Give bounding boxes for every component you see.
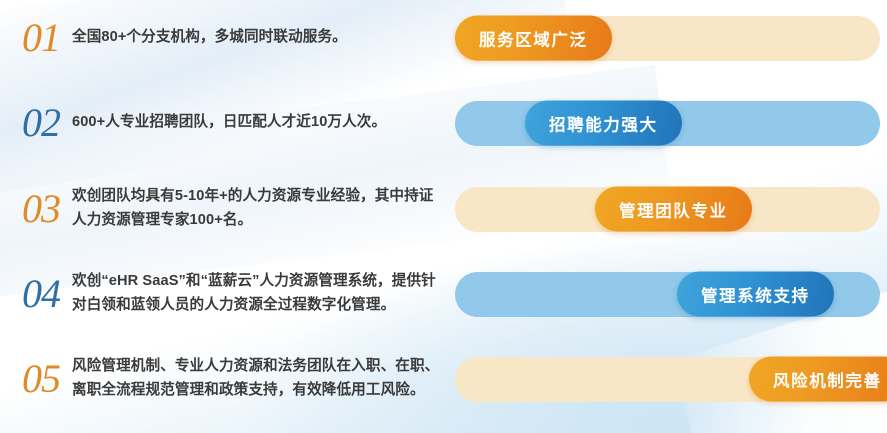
advantage-row-left: 04 欢创“eHR SaaS”和“蓝薪云”人力资源管理系统，提供针对白领和蓝领人… (0, 263, 450, 325)
advantage-row: 01 全国80+个分支机构，多城同时联动服务。 服务区域广泛 (0, 8, 887, 68)
advantage-index-numeral: 05 (22, 359, 72, 399)
advantage-badge[interactable]: 服务区域广泛 (455, 16, 612, 61)
advantage-index-numeral: 01 (22, 18, 72, 58)
advantage-row: 04 欢创“eHR SaaS”和“蓝薪云”人力资源管理系统，提供针对白领和蓝领人… (0, 263, 887, 325)
advantage-row: 03 欢创团队均具有5-10年+的人力资源专业经验，其中持证人力资源管理专家10… (0, 178, 887, 240)
advantage-row-right: 风险机制完善 (455, 348, 887, 410)
advantages-infographic: 01 全国80+个分支机构，多城同时联动服务。 服务区域广泛 02 600+人专… (0, 0, 887, 433)
advantage-track: 管理团队专业 (455, 187, 880, 232)
advantage-description: 风险管理机制、专业人力资源和法务团队在入职、在职、离职全流程规范管理和政策支持，… (72, 355, 450, 402)
advantage-track: 管理系统支持 (455, 272, 880, 317)
advantage-description: 欢创团队均具有5-10年+的人力资源专业经验，其中持证人力资源管理专家100+名… (72, 185, 450, 232)
advantage-row-right: 管理团队专业 (455, 178, 887, 240)
advantage-row-right: 招聘能力强大 (455, 93, 887, 153)
advantage-track: 服务区域广泛 (455, 16, 880, 61)
advantage-badge[interactable]: 招聘能力强大 (525, 101, 682, 146)
advantage-row-left: 05 风险管理机制、专业人力资源和法务团队在入职、在职、离职全流程规范管理和政策… (0, 348, 450, 410)
advantage-row-left: 03 欢创团队均具有5-10年+的人力资源专业经验，其中持证人力资源管理专家10… (0, 178, 450, 240)
advantage-row: 02 600+人专业招聘团队，日匹配人才近10万人次。 招聘能力强大 (0, 93, 887, 153)
advantage-description: 欢创“eHR SaaS”和“蓝薪云”人力资源管理系统，提供针对白领和蓝领人员的人… (72, 270, 450, 317)
advantage-row-right: 服务区域广泛 (455, 8, 887, 68)
advantage-row-left: 01 全国80+个分支机构，多城同时联动服务。 (0, 8, 450, 68)
advantage-description: 600+人专业招聘团队，日匹配人才近10万人次。 (72, 111, 450, 135)
advantage-row-left: 02 600+人专业招聘团队，日匹配人才近10万人次。 (0, 93, 450, 153)
advantage-index-numeral: 02 (22, 103, 72, 143)
advantage-description: 全国80+个分支机构，多城同时联动服务。 (72, 26, 450, 50)
advantage-track: 风险机制完善 (455, 357, 880, 402)
advantage-badge[interactable]: 风险机制完善 (749, 357, 887, 402)
advantage-badge[interactable]: 管理团队专业 (595, 187, 752, 232)
advantage-row-right: 管理系统支持 (455, 263, 887, 325)
advantage-index-numeral: 04 (22, 274, 72, 314)
advantage-index-numeral: 03 (22, 189, 72, 229)
advantage-row: 05 风险管理机制、专业人力资源和法务团队在入职、在职、离职全流程规范管理和政策… (0, 348, 887, 410)
advantage-badge[interactable]: 管理系统支持 (677, 272, 834, 317)
advantage-track: 招聘能力强大 (455, 101, 880, 146)
